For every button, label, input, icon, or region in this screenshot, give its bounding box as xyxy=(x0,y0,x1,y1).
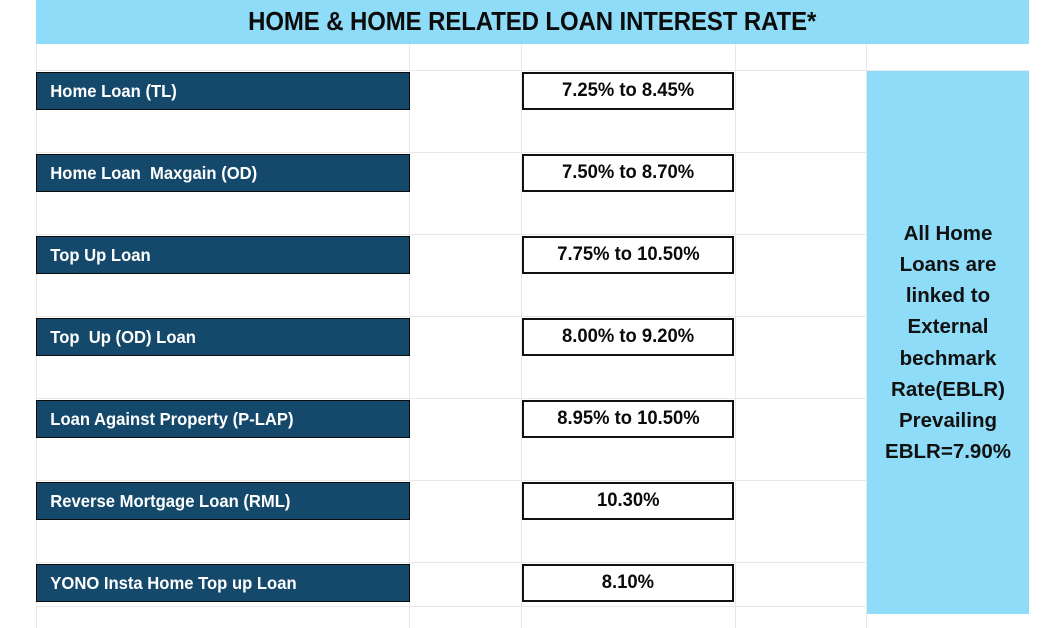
eblr-note-panel: All Home Loans are linked to External be… xyxy=(867,71,1029,614)
eblr-note-text: All Home Loans are linked to External be… xyxy=(867,218,1029,467)
loan-label-box[interactable]: Top Up (OD) Loan xyxy=(36,318,410,356)
loan-label: Top Up Loan xyxy=(37,245,151,266)
loan-rate-box[interactable]: 7.50% to 8.70% xyxy=(522,154,734,192)
loan-label: Home Loan (TL) xyxy=(37,81,177,102)
loan-label: Home Loan Maxgain (OD) xyxy=(37,163,257,184)
loan-rate: 7.50% to 8.70% xyxy=(562,162,694,184)
rate-table-sheet: HOME & HOME RELATED LOAN INTEREST RATE* … xyxy=(0,0,1049,628)
page-title-text: HOME & HOME RELATED LOAN INTEREST RATE* xyxy=(248,8,816,37)
loan-rate-box[interactable]: 8.10% xyxy=(522,564,734,602)
loan-rate-box[interactable]: 8.95% to 10.50% xyxy=(522,400,734,438)
loan-rate-box[interactable]: 7.75% to 10.50% xyxy=(522,236,734,274)
loan-rate: 10.30% xyxy=(597,490,660,512)
loan-label: YONO Insta Home Top up Loan xyxy=(37,573,297,594)
loan-label-box[interactable]: YONO Insta Home Top up Loan xyxy=(36,564,410,602)
loan-rate: 8.10% xyxy=(602,572,654,594)
loan-rate: 7.75% to 10.50% xyxy=(557,244,699,266)
loan-rate-box[interactable]: 10.30% xyxy=(522,482,734,520)
loan-label-box[interactable]: Loan Against Property (P-LAP) xyxy=(36,400,410,438)
loan-rate: 8.95% to 10.50% xyxy=(557,408,699,430)
loan-label: Loan Against Property (P-LAP) xyxy=(37,409,294,430)
loan-rate: 7.25% to 8.45% xyxy=(562,80,694,102)
loan-label-box[interactable]: Top Up Loan xyxy=(36,236,410,274)
page-title: HOME & HOME RELATED LOAN INTEREST RATE* xyxy=(36,0,1029,44)
loan-label-box[interactable]: Home Loan (TL) xyxy=(36,72,410,110)
loan-rate-box[interactable]: 8.00% to 9.20% xyxy=(522,318,734,356)
loan-label: Top Up (OD) Loan xyxy=(37,327,196,348)
loan-label: Reverse Mortgage Loan (RML) xyxy=(37,491,290,512)
loan-rate-box[interactable]: 7.25% to 8.45% xyxy=(522,72,734,110)
loan-label-box[interactable]: Home Loan Maxgain (OD) xyxy=(36,154,410,192)
loan-rate: 8.00% to 9.20% xyxy=(562,326,694,348)
loan-label-box[interactable]: Reverse Mortgage Loan (RML) xyxy=(36,482,410,520)
